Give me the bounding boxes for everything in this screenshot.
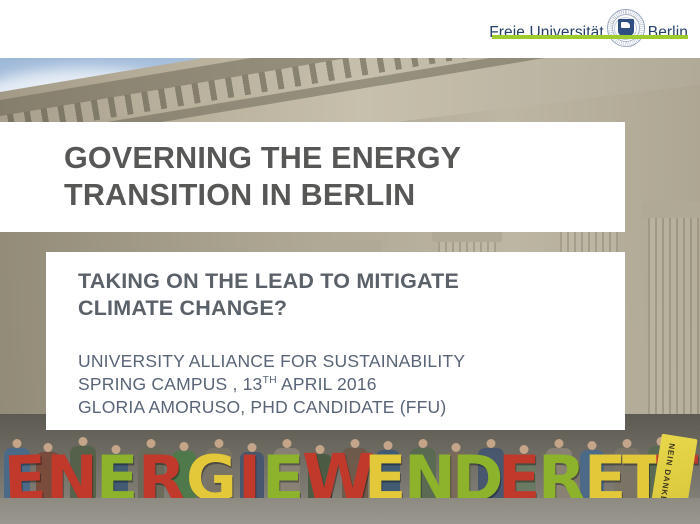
- info-line-date: SPRING CAMPUS , 13TH APRIL 2016: [78, 373, 625, 396]
- subtitle-panel: TAKING ON THE LEAD TO MITIGATE CLIMATE C…: [46, 252, 625, 430]
- fu-berlin-seal-icon: [607, 9, 645, 47]
- info-date-pre: SPRING CAMPUS , 13: [78, 374, 262, 394]
- slide-subtitle-line-1: TAKING ON THE LEAD TO MITIGATE: [78, 268, 625, 295]
- yellow-banner-text: NEIN DANKE: [658, 443, 676, 503]
- fu-logo-text-left: Freie Universität: [489, 23, 607, 42]
- info-line-presenter: GLORIA AMORUSO, PHD CANDIDATE (FFU): [78, 396, 625, 419]
- title-panel: GOVERNING THE ENERGY TRANSITION IN BERLI…: [0, 122, 625, 232]
- slide-header: Freie Universität Berlin: [0, 0, 700, 58]
- info-date-post: APRIL 2016: [277, 374, 377, 394]
- ground: [0, 498, 700, 524]
- info-date-ordinal: TH: [262, 374, 276, 386]
- slide-title-line-2: TRANSITION IN BERLIN: [64, 177, 625, 214]
- fu-logo-text-right: Berlin: [645, 23, 688, 42]
- slide-title-line-1: GOVERNING THE ENERGY: [64, 140, 625, 177]
- protest-crowd: Ohne Planungssicherheit keine Energiewen…: [0, 414, 700, 524]
- slide-subtitle-line-2: CLIMATE CHANGE?: [78, 295, 625, 322]
- slide-info-block: UNIVERSITY ALLIANCE FOR SUSTAINABILITY S…: [78, 350, 625, 419]
- presentation-slide: Ohne Planungssicherheit keine Energiewen…: [0, 0, 700, 524]
- fu-logo-underline: [492, 35, 688, 39]
- info-line-event: UNIVERSITY ALLIANCE FOR SUSTAINABILITY: [78, 350, 625, 373]
